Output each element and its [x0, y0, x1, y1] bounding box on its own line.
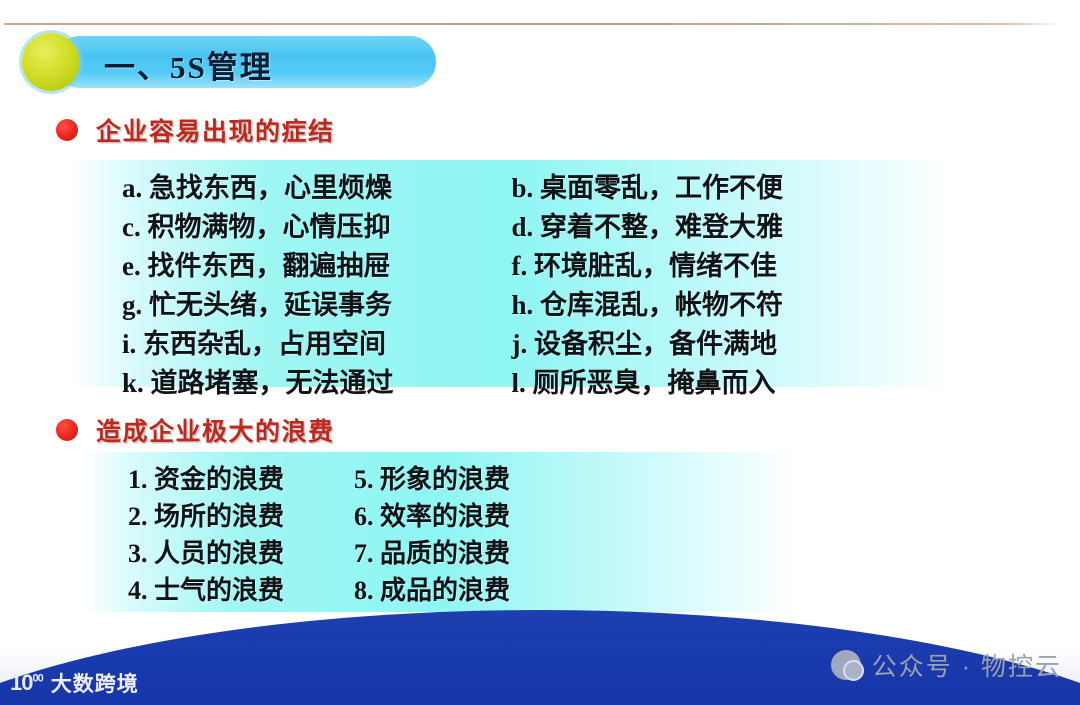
red-dot-icon: [56, 119, 78, 141]
list-item: 1. 资金的浪费: [128, 462, 284, 497]
list-item: d. 穿着不整，难登大雅: [484, 210, 784, 245]
list-item: 6. 效率的浪费: [354, 499, 510, 534]
watermark-right-text: 公众号 · 物控云: [872, 647, 1062, 683]
list-item: e. 找件东西，翻遍抽屉: [122, 249, 394, 284]
list-item: j. 设备积尘，备件满地: [484, 327, 784, 362]
list-item: 7. 品质的浪费: [354, 536, 510, 571]
dashu-logo-icon: 1000: [10, 670, 43, 696]
section-title-symptoms: 企业容易出现的症结: [96, 112, 335, 148]
red-dot-icon: [56, 419, 78, 441]
wechat-icon: [831, 650, 861, 680]
top-divider-rule: [4, 23, 1062, 25]
watermark-right: 公众号 · 物控云: [831, 647, 1062, 683]
list-item: 3. 人员的浪费: [128, 536, 284, 571]
list-item: l. 厕所恶臭，掩鼻而入: [484, 366, 784, 401]
symptoms-list: a. 急找东西，心里烦燥 b. 桌面零乱，工作不便 c. 积物满物，心情压抑 d…: [122, 171, 783, 401]
page-title: 一、5S管理: [104, 42, 273, 87]
list-item: 8. 成品的浪费: [354, 573, 510, 608]
list-item: i. 东西杂乱，占用空间: [122, 327, 394, 362]
list-item: 5. 形象的浪费: [354, 462, 510, 497]
list-item: c. 积物满物，心情压抑: [122, 210, 394, 245]
list-item: a. 急找东西，心里烦燥: [122, 171, 394, 206]
list-item: g. 忙无头绪，延误事务: [122, 288, 394, 323]
list-item: 2. 场所的浪费: [128, 499, 284, 534]
watermark-left-brand: 大数跨境: [51, 668, 139, 698]
waste-list: 1. 资金的浪费 5. 形象的浪费 2. 场所的浪费 6. 效率的浪费 3. 人…: [128, 462, 510, 608]
watermark-left: 1000 大数跨境: [10, 668, 139, 698]
list-item: 4. 士气的浪费: [128, 573, 284, 608]
title-bullet-ball-icon: [22, 33, 80, 91]
section-header-waste: 造成企业极大的浪费: [56, 412, 335, 448]
section-header-symptoms: 企业容易出现的症结: [56, 112, 335, 148]
list-item: h. 仓库混乱，帐物不符: [484, 288, 784, 323]
section-title-waste: 造成企业极大的浪费: [96, 412, 335, 448]
list-item: k. 道路堵塞，无法通过: [122, 366, 394, 401]
list-item: f. 环境脏乱，情绪不佳: [484, 249, 784, 284]
list-item: b. 桌面零乱，工作不便: [484, 171, 784, 206]
slide-canvas: 一、5S管理 企业容易出现的症结 a. 急找东西，心里烦燥 b. 桌面零乱，工作…: [0, 0, 1080, 705]
